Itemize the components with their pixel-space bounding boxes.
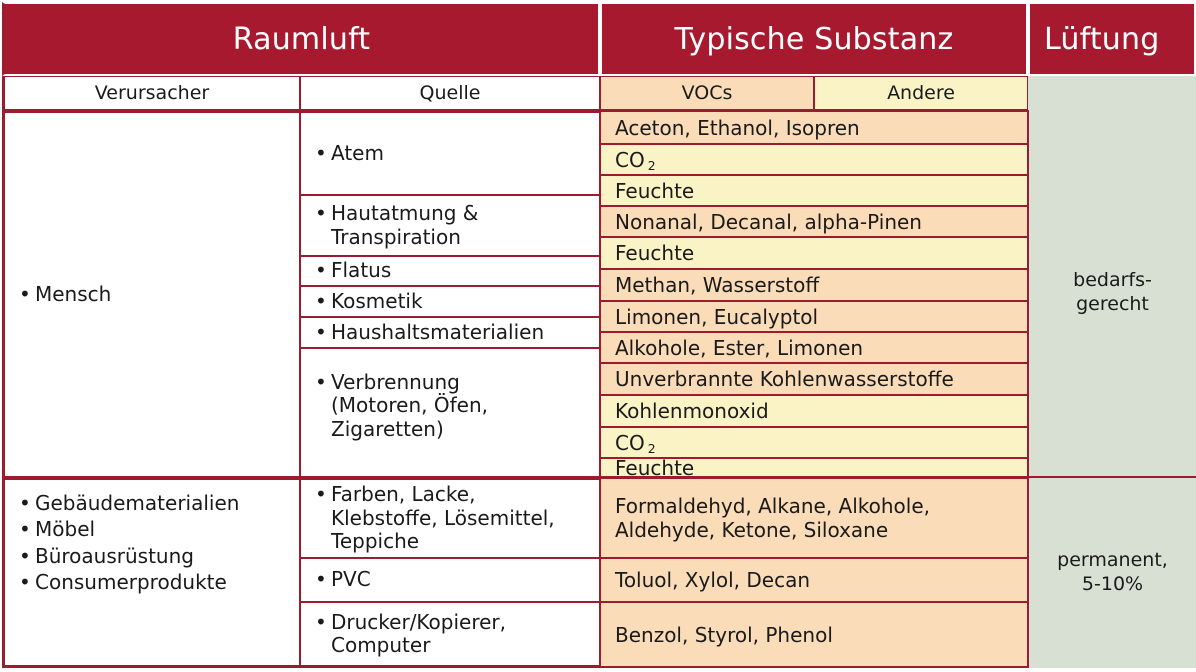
- header-typische-substanz: Typische Substanz: [600, 2, 1028, 76]
- list-item: Möbel: [19, 518, 289, 541]
- lueftung-text: permanent, 5-10%: [1057, 549, 1168, 597]
- lueftung-cell-bedarfsgerecht: bedarfs- gerecht: [1028, 110, 1196, 477]
- substanz-text: CO: [615, 148, 645, 172]
- verursacher-cell-gebaeude: Gebäudematerialien Möbel Büroausrüstung …: [2, 477, 300, 668]
- quelle-cell-flatus: Flatus: [300, 256, 600, 286]
- quelle-list: Verbrennung (Motoren, Öfen, Zigaretten): [315, 371, 589, 441]
- list-item: Gebäudematerialien: [19, 492, 289, 515]
- substanz-cell-co2-verbrennung: CO2: [600, 427, 1028, 458]
- substanz-text: Kohlenmonoxid: [615, 399, 769, 423]
- header-typische-substanz-label: Typische Substanz: [675, 22, 954, 57]
- substanz-cell-feuchte-atem: Feuchte: [600, 175, 1028, 206]
- quelle-cell-haushaltsmaterialien: Haushaltsmaterialien: [300, 317, 600, 348]
- substanz-cell-nonanal: Nonanal, Decanal, alpha-Pinen: [600, 206, 1028, 237]
- subheader-vocs: VOCs: [600, 76, 814, 110]
- substanz-subscript: 2: [645, 158, 656, 173]
- list-item: Haushaltsmaterialien: [315, 321, 589, 344]
- indoor-air-table: Raumluft Typische Substanz Lüftung Verur…: [0, 0, 1196, 672]
- substanz-text: Feuchte: [615, 241, 694, 265]
- lueftung-text: bedarfs- gerecht: [1073, 269, 1152, 317]
- list-item: Büroausrüstung: [19, 545, 289, 568]
- quelle-list: PVC: [315, 568, 589, 591]
- subheader-verursacher-label: Verursacher: [95, 82, 209, 104]
- substanz-subscript: 2: [645, 441, 656, 456]
- header-lueftung-label: Lüftung: [1044, 22, 1159, 57]
- quelle-cell-farben: Farben, Lacke, Klebstoffe, Lösemittel, T…: [300, 477, 600, 558]
- quelle-cell-atem: Atem: [300, 110, 600, 195]
- verursacher-list-gebaeude: Gebäudematerialien Möbel Büroausrüstung …: [19, 492, 289, 595]
- substanz-text: Unverbrannte Kohlenwasserstoffe: [615, 367, 954, 391]
- substanz-text-group: CO2: [615, 148, 656, 172]
- substanz-cell-formaldehyd: Formaldehyd, Alkane, Alkohole, Aldehyde,…: [600, 477, 1028, 558]
- list-item: PVC: [315, 568, 589, 591]
- list-item: Mensch: [19, 283, 289, 306]
- verursacher-cell-mensch: Mensch: [2, 110, 300, 477]
- substanz-cell-feuchte-verbrennung: Feuchte: [600, 458, 1028, 477]
- list-item: Farben, Lacke, Klebstoffe, Lösemittel, T…: [315, 483, 589, 553]
- list-item: Kosmetik: [315, 290, 589, 313]
- substanz-cell-benzol: Benzol, Styrol, Phenol: [600, 602, 1028, 668]
- substanz-text-group: CO2: [615, 431, 656, 455]
- list-item: Hautatmung & Transpiration: [315, 202, 589, 249]
- substanz-text: Aceton, Ethanol, Isopren: [615, 116, 860, 140]
- substanz-text: Formaldehyd, Alkane, Alkohole, Aldehyde,…: [615, 494, 930, 542]
- quelle-cell-verbrennung: Verbrennung (Motoren, Öfen, Zigaretten): [300, 348, 600, 477]
- lueftung-cell-permanent: permanent, 5-10%: [1028, 477, 1196, 668]
- quelle-list: Kosmetik: [315, 290, 589, 313]
- header-lueftung: Lüftung: [1028, 2, 1196, 76]
- substanz-cell-co2-atem: CO2: [600, 144, 1028, 175]
- list-item: Consumerprodukte: [19, 571, 289, 594]
- list-item: Drucker/Kopierer, Computer: [315, 611, 589, 658]
- substanz-text: Feuchte: [615, 179, 694, 203]
- verursacher-list-mensch: Mensch: [19, 283, 289, 306]
- substanz-cell-unverbrannte: Unverbrannte Kohlenwasserstoffe: [600, 363, 1028, 395]
- quelle-cell-kosmetik: Kosmetik: [300, 286, 600, 317]
- quelle-list: Hautatmung & Transpiration: [315, 202, 589, 249]
- subheader-quelle-label: Quelle: [420, 82, 481, 104]
- substanz-cell-alkohole: Alkohole, Ester, Limonen: [600, 332, 1028, 363]
- substanz-text: Methan, Wasserstoff: [615, 273, 819, 297]
- substanz-cell-limonen: Limonen, Eucalyptol: [600, 301, 1028, 332]
- substanz-text: Toluol, Xylol, Decan: [615, 568, 810, 592]
- quelle-list: Farben, Lacke, Klebstoffe, Lösemittel, T…: [315, 483, 589, 553]
- subheader-quelle: Quelle: [300, 76, 600, 110]
- quelle-list: Haushaltsmaterialien: [315, 321, 589, 344]
- list-item: Verbrennung (Motoren, Öfen, Zigaretten): [315, 371, 589, 441]
- substanz-cell-kohlenmonoxid: Kohlenmonoxid: [600, 395, 1028, 427]
- substanz-text: Nonanal, Decanal, alpha-Pinen: [615, 210, 922, 234]
- subheader-andere: Andere: [814, 76, 1028, 110]
- subheader-lueftung-spacer: [1028, 76, 1196, 110]
- substanz-text: Benzol, Styrol, Phenol: [615, 623, 833, 647]
- subheader-vocs-label: VOCs: [682, 82, 733, 104]
- substanz-text: Limonen, Eucalyptol: [615, 305, 818, 329]
- substanz-text: CO: [615, 431, 645, 455]
- substanz-text: Alkohole, Ester, Limonen: [615, 336, 863, 360]
- quelle-cell-drucker: Drucker/Kopierer, Computer: [300, 602, 600, 668]
- quelle-list: Drucker/Kopierer, Computer: [315, 611, 589, 658]
- list-item: Flatus: [315, 259, 589, 282]
- subheader-verursacher: Verursacher: [2, 76, 300, 110]
- header-raumluft-label: Raumluft: [233, 22, 371, 57]
- subheader-andere-label: Andere: [887, 82, 955, 104]
- substanz-cell-aceton: Aceton, Ethanol, Isopren: [600, 110, 1028, 144]
- quelle-list: Atem: [315, 142, 589, 165]
- substanz-cell-feuchte-haut: Feuchte: [600, 237, 1028, 269]
- quelle-cell-pvc: PVC: [300, 558, 600, 602]
- quelle-cell-hautatmung: Hautatmung & Transpiration: [300, 195, 600, 256]
- list-item: Atem: [315, 142, 589, 165]
- substanz-text: Feuchte: [615, 458, 694, 477]
- quelle-list: Flatus: [315, 259, 589, 282]
- substanz-cell-methan: Methan, Wasserstoff: [600, 269, 1028, 301]
- substanz-cell-toluol: Toluol, Xylol, Decan: [600, 558, 1028, 602]
- header-raumluft: Raumluft: [2, 2, 600, 76]
